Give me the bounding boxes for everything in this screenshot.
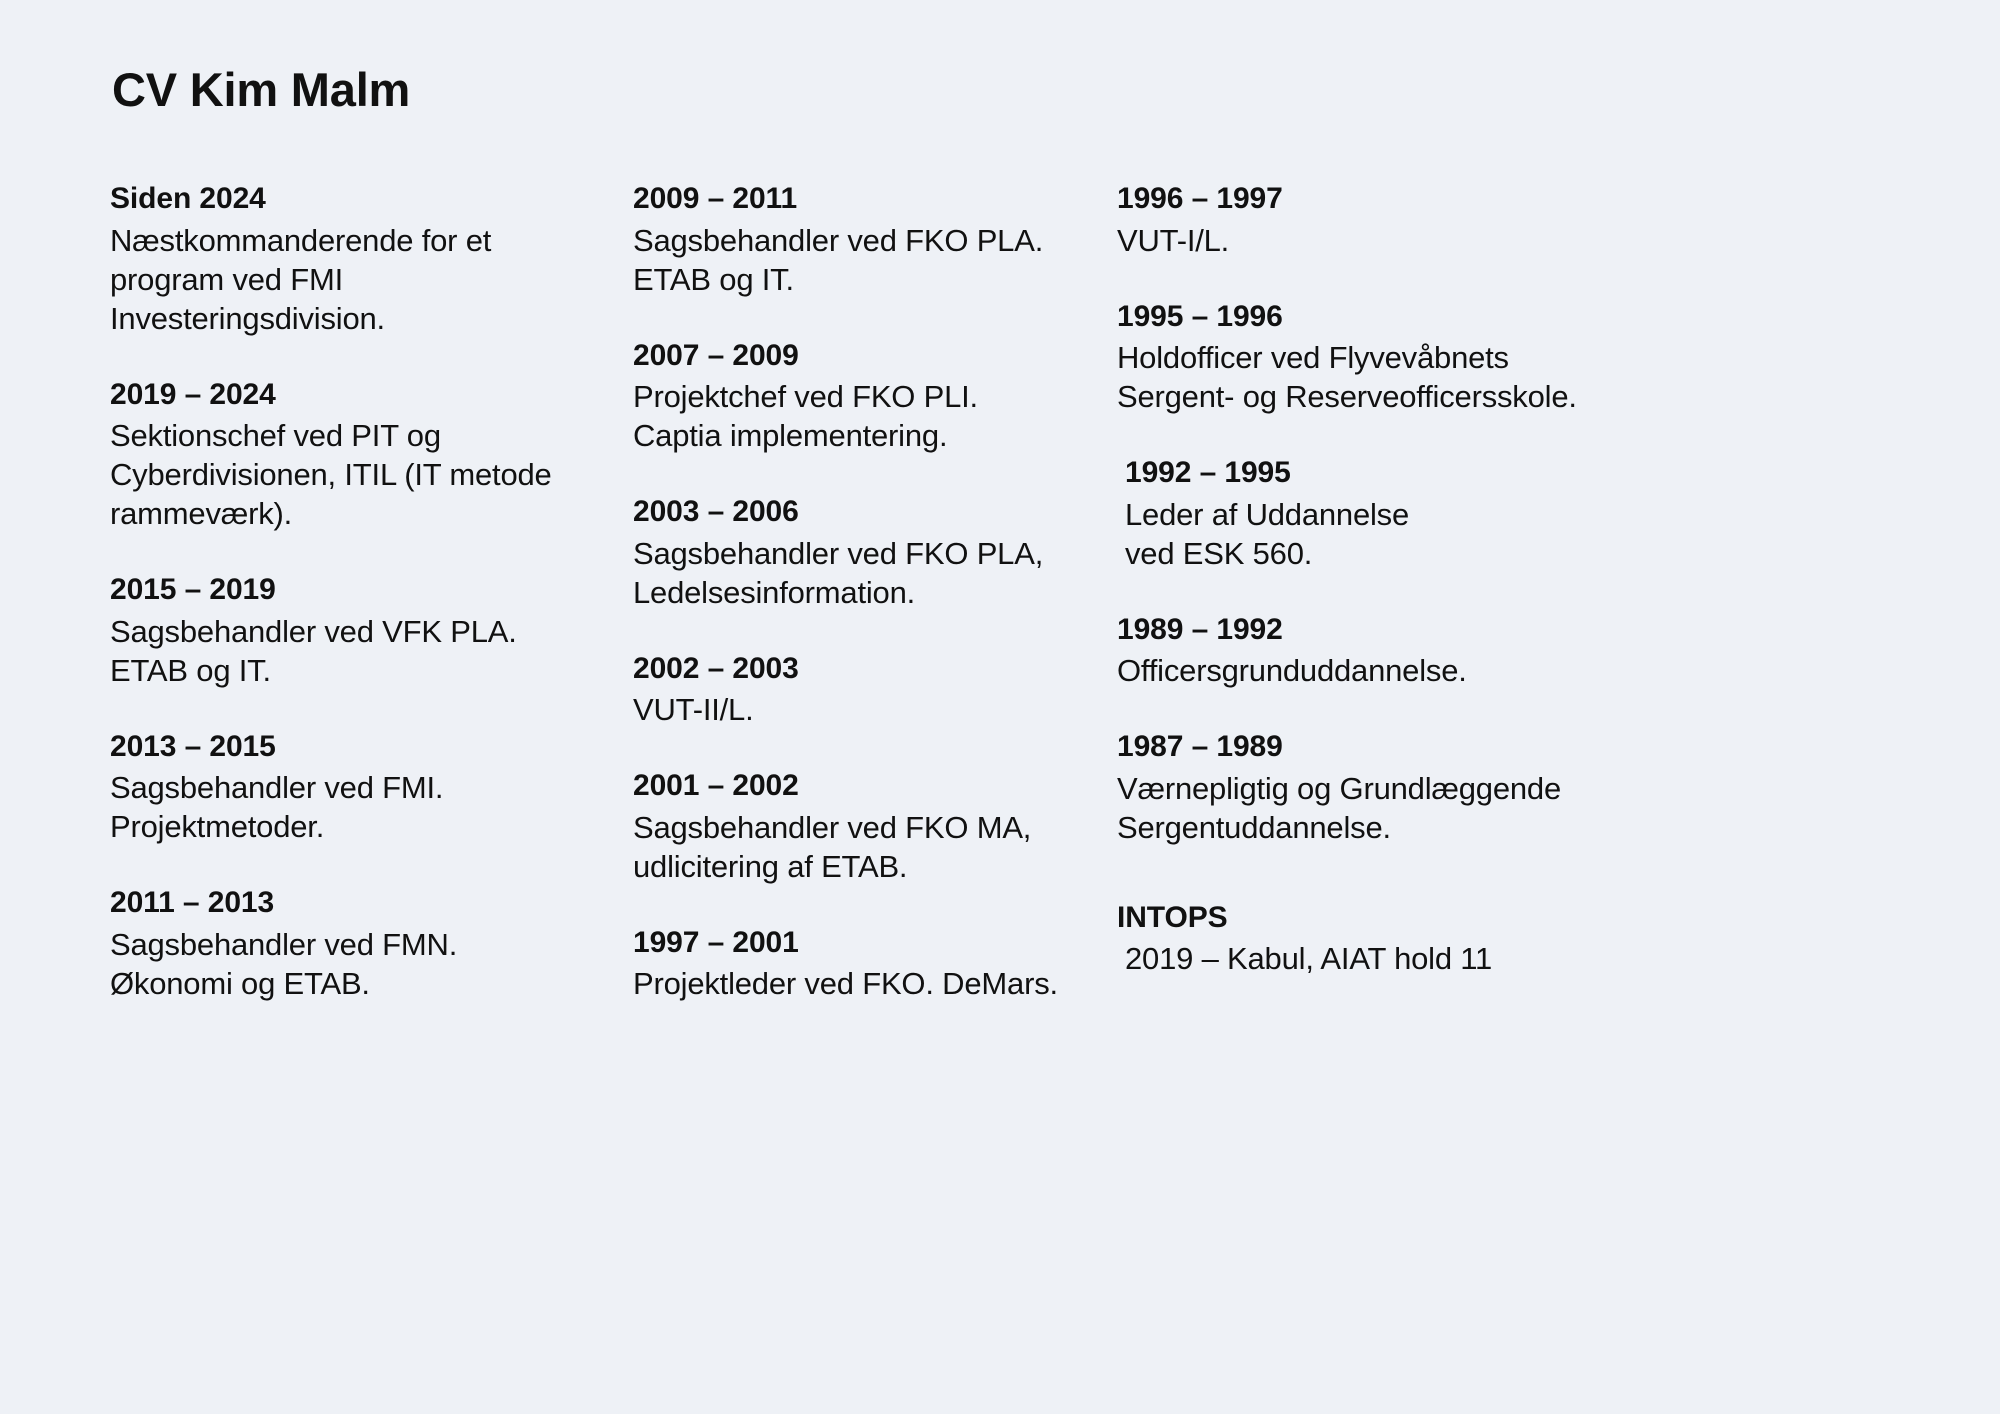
entry-period: 1997 – 2001	[633, 924, 1095, 962]
cv-column-3: 1996 – 1997 VUT-I/L. 1995 – 1996 Holdoff…	[1095, 180, 1735, 978]
entry-period: 2003 – 2006	[633, 493, 1095, 531]
cv-entry: 2009 – 2011 Sagsbehandler ved FKO PLA. E…	[633, 180, 1095, 298]
entry-period: 1989 – 1992	[1117, 611, 1735, 649]
entry-period: 2009 – 2011	[633, 180, 1095, 218]
entry-description: Projektchef ved FKO PLI. Captia implemen…	[633, 377, 1095, 455]
entry-description: Sektionschef ved PIT og Cyberdivisionen,…	[110, 416, 605, 533]
cv-entry: 1989 – 1992 Officersgrunduddannelse.	[1117, 611, 1735, 690]
cv-entry: Siden 2024 Næstkommanderende for et prog…	[110, 180, 605, 338]
cv-page: CV Kim Malm Siden 2024 Næstkommanderende…	[0, 0, 2000, 1414]
cv-entry: 2015 – 2019 Sagsbehandler ved VFK PLA. E…	[110, 571, 605, 689]
entry-description: VUT-II/L.	[633, 690, 1095, 729]
entry-description: Sagsbehandler ved VFK PLA. ETAB og IT.	[110, 612, 605, 690]
entry-description: Sagsbehandler ved FKO PLA. ETAB og IT.	[633, 221, 1095, 299]
cv-entry: 1996 – 1997 VUT-I/L.	[1117, 180, 1735, 259]
cv-column-1: Siden 2024 Næstkommanderende for et prog…	[110, 180, 605, 1003]
entry-period: 2001 – 2002	[633, 767, 1095, 805]
entry-period: 1987 – 1989	[1117, 728, 1735, 766]
entry-description: Officersgrunduddannelse.	[1117, 651, 1735, 690]
entry-description: Sagsbehandler ved FMN. Økonomi og ETAB.	[110, 925, 605, 1003]
entry-description: Værnepligtig og Grundlæggende Sergentudd…	[1117, 769, 1735, 847]
cv-columns: Siden 2024 Næstkommanderende for et prog…	[0, 180, 2000, 1003]
cv-entry: 2019 – 2024 Sektionschef ved PIT og Cybe…	[110, 376, 605, 534]
entry-description: Sagsbehandler ved FKO MA, udlicitering a…	[633, 808, 1095, 886]
cv-entry: 2002 – 2003 VUT-II/L.	[633, 650, 1095, 729]
intops-description: 2019 – Kabul, AIAT hold 11	[1117, 939, 1735, 978]
entry-period: 1992 – 1995	[1125, 454, 1735, 492]
entry-description: Sagsbehandler ved FKO PLA, Ledelsesinfor…	[633, 534, 1095, 612]
entry-description: Projektleder ved FKO. DeMars.	[633, 964, 1095, 1003]
entry-period: 1995 – 1996	[1117, 298, 1735, 336]
cv-entry: 2001 – 2002 Sagsbehandler ved FKO MA, ud…	[633, 767, 1095, 885]
entry-period: 2011 – 2013	[110, 884, 605, 922]
entry-description: VUT-I/L.	[1117, 221, 1735, 260]
cv-entry: 1997 – 2001 Projektleder ved FKO. DeMars…	[633, 924, 1095, 1003]
entry-period: 2019 – 2024	[110, 376, 605, 414]
cv-entry-intops: INTOPS 2019 – Kabul, AIAT hold 11	[1117, 899, 1735, 978]
cv-entry: 1992 – 1995 Leder af Uddannelse ved ESK …	[1117, 454, 1735, 572]
cv-entry: 2007 – 2009 Projektchef ved FKO PLI. Cap…	[633, 337, 1095, 455]
cv-entry: 2003 – 2006 Sagsbehandler ved FKO PLA, L…	[633, 493, 1095, 611]
cv-entry: 1987 – 1989 Værnepligtig og Grundlæggend…	[1117, 728, 1735, 846]
entry-period: 1996 – 1997	[1117, 180, 1735, 218]
entry-period: 2007 – 2009	[633, 337, 1095, 375]
intops-heading: INTOPS	[1117, 899, 1735, 937]
entry-period: 2013 – 2015	[110, 728, 605, 766]
entry-period: Siden 2024	[110, 180, 605, 218]
cv-entry: 1995 – 1996 Holdofficer ved Flyvevåbnets…	[1117, 298, 1735, 416]
cv-entry: 2013 – 2015 Sagsbehandler ved FMI. Proje…	[110, 728, 605, 846]
entry-description: Næstkommanderende for et program ved FMI…	[110, 221, 605, 338]
entry-description: Sagsbehandler ved FMI. Projektmetoder.	[110, 768, 605, 846]
entry-description: Leder af Uddannelse ved ESK 560.	[1125, 495, 1735, 573]
cv-entry: 2011 – 2013 Sagsbehandler ved FMN. Økono…	[110, 884, 605, 1002]
entry-period: 2002 – 2003	[633, 650, 1095, 688]
cv-column-2: 2009 – 2011 Sagsbehandler ved FKO PLA. E…	[605, 180, 1095, 1003]
entry-description: Holdofficer ved Flyvevåbnets Sergent- og…	[1117, 338, 1735, 416]
page-title: CV Kim Malm	[112, 62, 2000, 118]
entry-period: 2015 – 2019	[110, 571, 605, 609]
